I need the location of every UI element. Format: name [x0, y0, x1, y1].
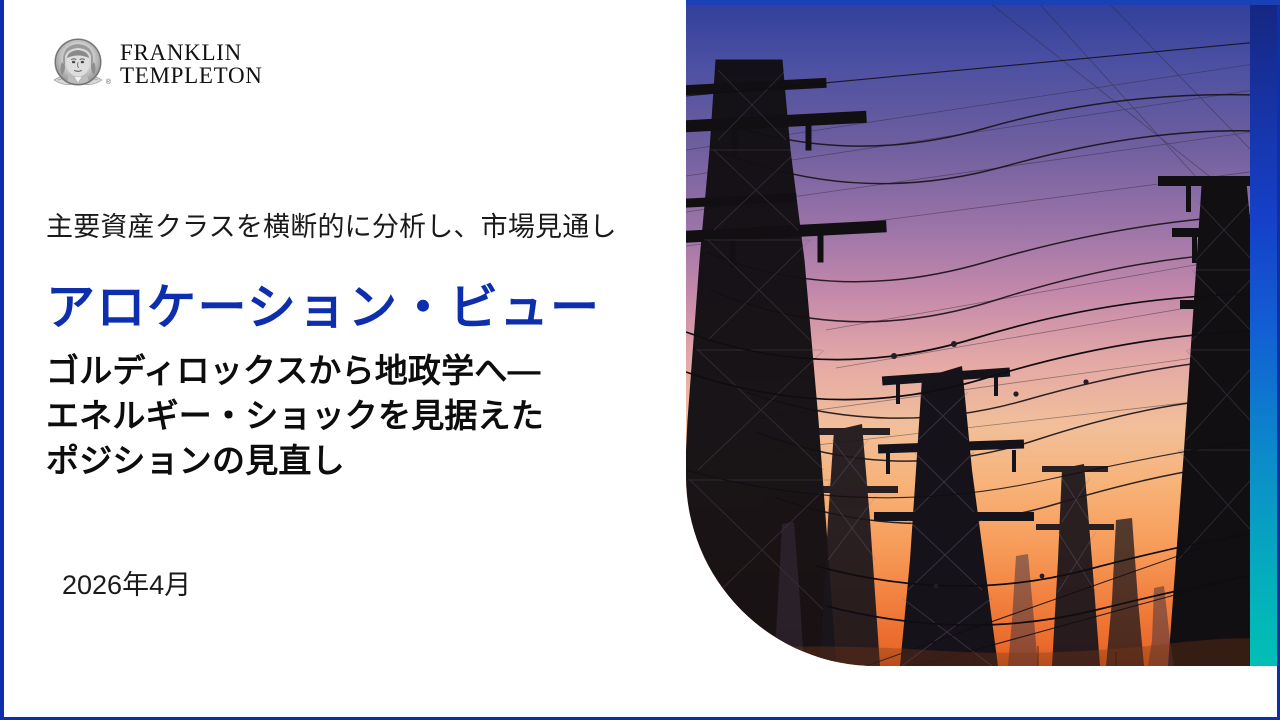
photo-top-accent-bar [686, 0, 1280, 5]
right-gradient-accent-bar [1250, 0, 1280, 666]
logo-line-franklin: FRANKLIN [120, 41, 263, 64]
logo-line-templeton: TEMPLETON [120, 64, 263, 87]
left-rule [0, 0, 4, 720]
transmission-towers-illustration [686, 0, 1280, 666]
page-title: アロケーション・ビュー [46, 268, 601, 339]
hero-image [686, 0, 1280, 666]
franklin-templeton-logo[interactable]: ® FRANKLIN TEMPLETON [50, 36, 263, 92]
eyebrow-text: 主要資産クラスを横断的に分析し、市場見通し [46, 205, 617, 244]
subtitle-line-3: ポジションの見直し [46, 439, 544, 484]
subtitle-line-2: エネルギー・ショックを見据えた [46, 394, 544, 439]
logo-wordmark: FRANKLIN TEMPLETON [120, 41, 263, 88]
title-slide: ® FRANKLIN TEMPLETON 主要資産クラスを横断的に分析し、市場見… [0, 0, 1280, 720]
publication-date: 2026年4月 [62, 563, 191, 602]
subtitle-line-1: ゴルディロックスから地政学へ― [46, 349, 544, 394]
franklin-portrait-medallion-icon: ® [50, 36, 106, 92]
registered-trademark-icon: ® [106, 79, 111, 86]
subtitle: ゴルディロックスから地政学へ― エネルギー・ショックを見据えた ポジションの見直… [46, 349, 544, 484]
